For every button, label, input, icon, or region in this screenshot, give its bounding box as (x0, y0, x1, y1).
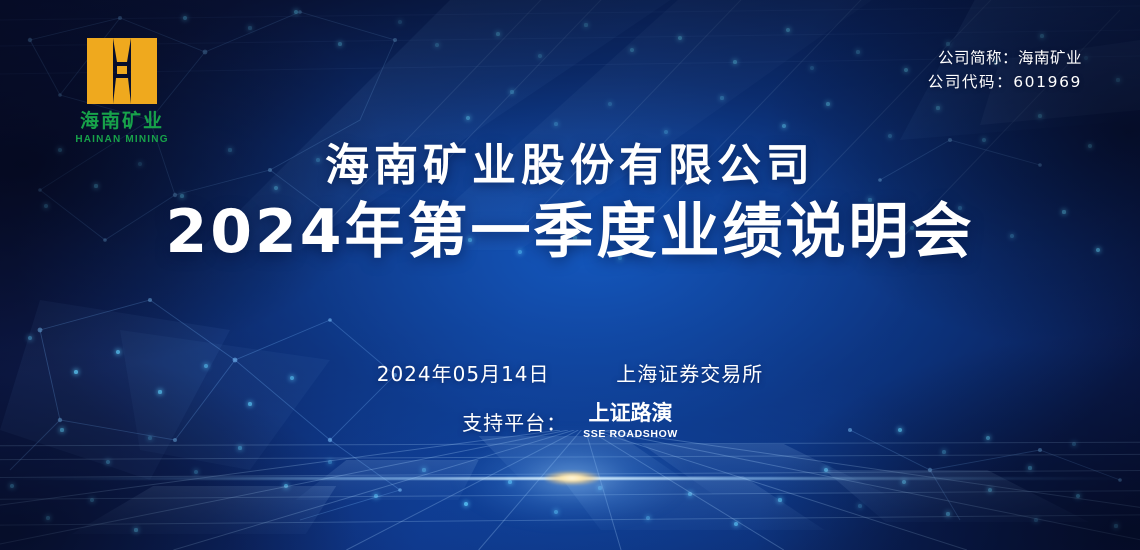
logo-name-cn: 海南矿业 (46, 111, 198, 132)
sse-roadshow-logo: 上证路演 SSE ROADSHOW (583, 403, 678, 440)
date-venue-row: 2024年05月14日 上海证券交易所 (0, 358, 1140, 387)
company-abbr-line: 公司简称：海南矿业 (928, 46, 1082, 70)
platform-label: 支持平台： (462, 407, 567, 436)
event-date: 2024年05月14日 (377, 362, 550, 386)
company-logo: 海南矿业 HAINAN MINING (46, 36, 198, 145)
page-title-event: 2024年第一季度业绩说明会 (0, 198, 1140, 268)
company-code-line: 公司代码：601969 (928, 70, 1082, 94)
meta-block: 2024年05月14日 上海证券交易所 支持平台： 上证路演 SSE ROADS… (0, 358, 1140, 440)
presentation-banner: 海南矿业 HAINAN MINING 公司简称：海南矿业 公司代码：601969… (0, 0, 1140, 550)
hainan-mining-m-mark-icon (83, 36, 161, 106)
company-info: 公司简称：海南矿业 公司代码：601969 (928, 46, 1082, 94)
event-venue: 上海证券交易所 (616, 362, 763, 386)
platform-row: 支持平台： 上证路演 SSE ROADSHOW (0, 403, 1140, 440)
headline-block: 海南矿业股份有限公司 2024年第一季度业绩说明会 (0, 140, 1140, 268)
page-title-company: 海南矿业股份有限公司 (0, 140, 1140, 192)
sse-logo-en: SSE ROADSHOW (583, 428, 678, 440)
banner-content: 海南矿业 HAINAN MINING 公司简称：海南矿业 公司代码：601969… (0, 0, 1140, 550)
sse-logo-cn: 上证路演 (589, 401, 673, 425)
